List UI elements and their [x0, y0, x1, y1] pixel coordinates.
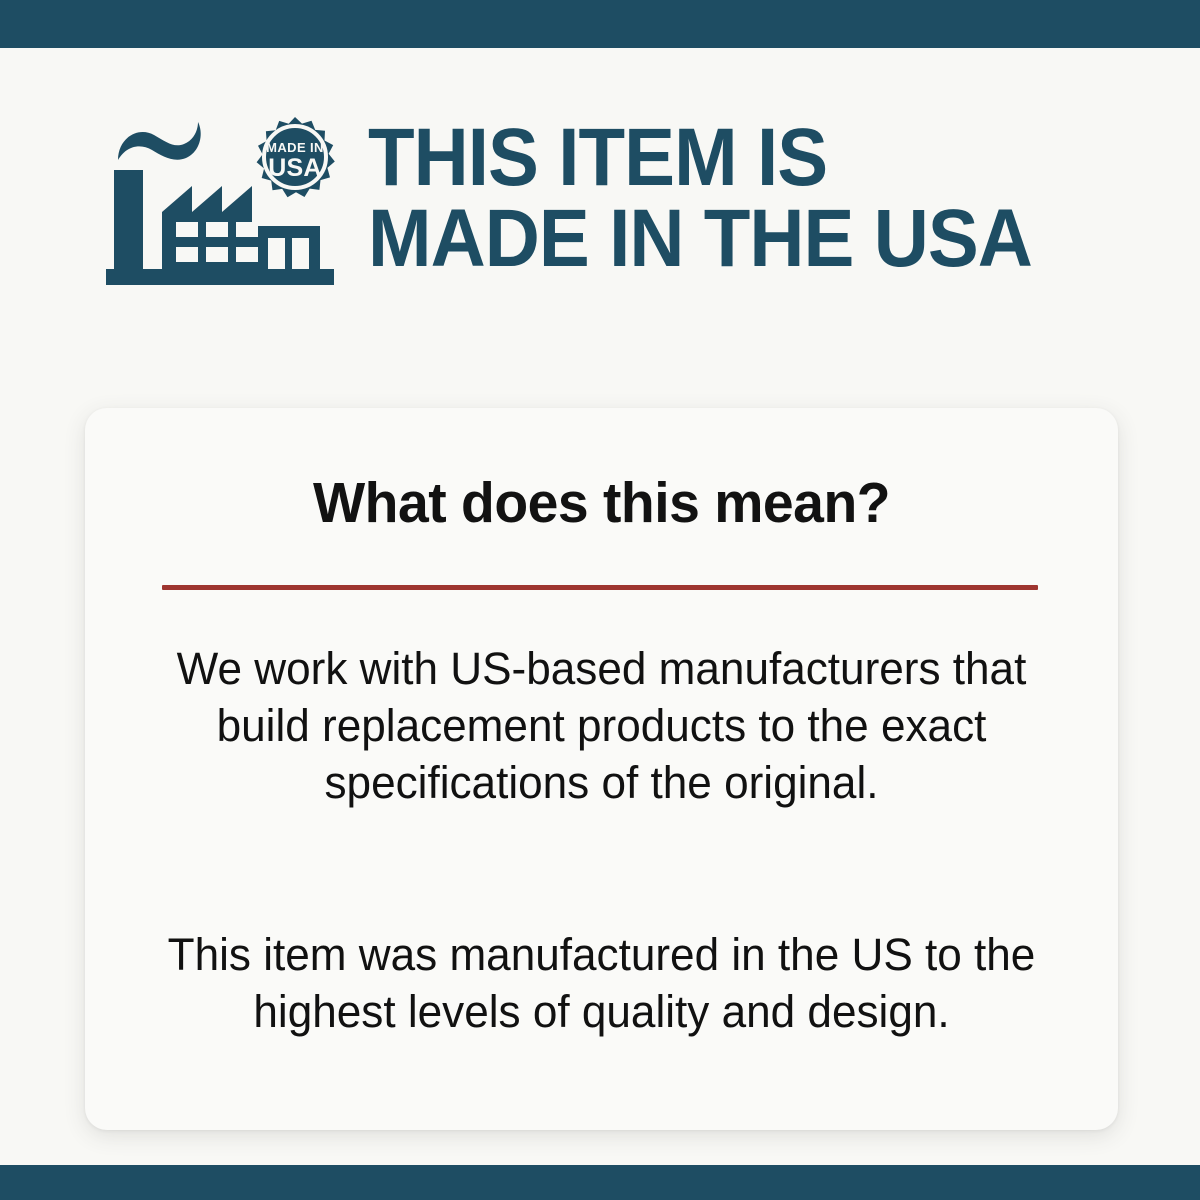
page-title: THIS ITEM IS MADE IN THE USA — [368, 117, 1082, 279]
badge-line1-text: MADE IN — [266, 140, 324, 155]
top-accent-bar — [0, 0, 1200, 48]
factory-icon: MADE IN USA — [100, 108, 340, 293]
info-card: What does this mean? We work with US-bas… — [85, 408, 1118, 1130]
card-heading: What does this mean? — [100, 470, 1102, 536]
card-paragraph-1: We work with US-based manufacturers that… — [154, 640, 1049, 811]
badge-line2-text: USA — [268, 154, 321, 182]
page-canvas: MADE IN USA THIS ITEM IS MADE IN THE USA… — [0, 48, 1200, 1165]
bottom-accent-bar — [0, 1165, 1200, 1200]
title-line-1: THIS ITEM IS — [368, 117, 1032, 198]
card-paragraph-2: This item was manufactured in the US to … — [154, 926, 1049, 1040]
red-divider — [162, 585, 1038, 590]
title-line-2: MADE IN THE USA — [368, 198, 1032, 279]
header: MADE IN USA THIS ITEM IS MADE IN THE USA — [0, 98, 1200, 298]
